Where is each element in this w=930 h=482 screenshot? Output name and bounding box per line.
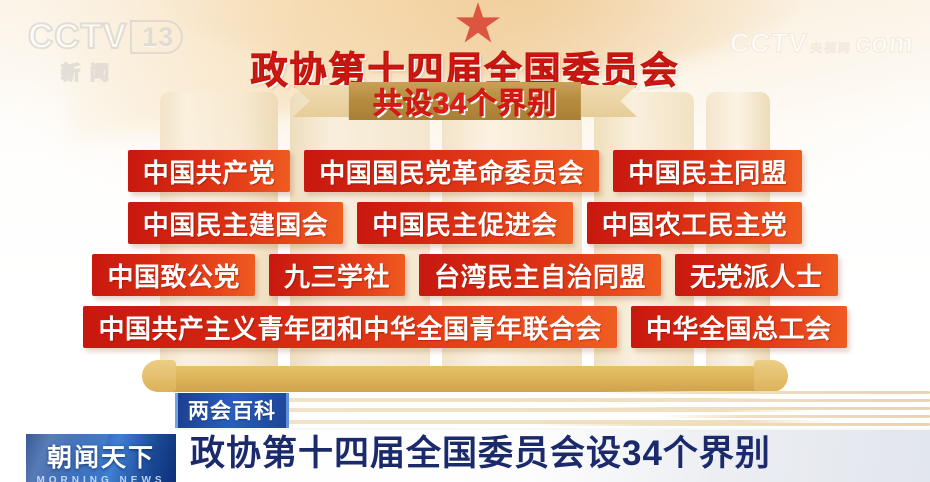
sector-tag: 中国国民党革命委员会	[304, 150, 599, 192]
news-graphic-screen: CCTV 13 新闻 CCTV 央视网 com 政协第十四届全国委员会 共设34…	[0, 0, 930, 482]
sector-tag-label: 无党派人士	[690, 257, 823, 294]
sector-tag: 中国共产党	[128, 150, 291, 192]
sector-tag-label: 中国民主同盟	[628, 153, 787, 190]
ribbon-label: 共设34个界别	[373, 80, 557, 122]
sector-tag: 中国民主促进会	[357, 202, 573, 244]
topic-badge: 两会百科	[175, 393, 289, 428]
sector-tag-label: 中国致公党	[107, 257, 240, 294]
topic-badge-label: 两会百科	[188, 400, 276, 423]
lower-third: 两会百科 朝闻天下 MORNING NEWS 政协第十四届全国委员会设34个界别	[0, 382, 930, 482]
tag-row: 中国共产主义青年团和中华全国青年联合会 中华全国总工会	[0, 306, 930, 348]
sector-tag-label: 中国国民党革命委员会	[319, 153, 584, 190]
sector-tag: 中华全国总工会	[631, 306, 847, 348]
sector-tag-label: 中国共产主义青年团和中华全国青年联合会	[98, 309, 602, 346]
sector-tag-list: 中国共产党 中国国民党革命委员会 中国民主同盟 中国民主建国会 中国民主促进会 …	[0, 150, 930, 358]
ribbon-banner: 共设34个界别	[349, 82, 581, 120]
program-logo: 朝闻天下 MORNING NEWS	[26, 434, 176, 482]
decorative-gold-lines	[460, 390, 930, 424]
sector-tag: 台湾民主自治同盟	[419, 254, 661, 296]
sector-tag-label: 九三学社	[284, 257, 390, 294]
sector-tag-label: 中国共产党	[143, 153, 276, 190]
tag-row: 中国致公党 九三学社 台湾民主自治同盟 无党派人士	[0, 254, 930, 296]
program-name-cn: 朝闻天下	[26, 438, 176, 474]
sector-tag: 无党派人士	[675, 254, 838, 296]
sector-tag: 中国民主同盟	[613, 150, 802, 192]
sector-tag-label: 台湾民主自治同盟	[434, 257, 646, 294]
sector-tag-label: 中国民主促进会	[372, 205, 558, 242]
sector-tag: 中国农工民主党	[587, 202, 803, 244]
ribbon-body: 共设34个界别	[349, 82, 581, 120]
sector-tag-label: 中国农工民主党	[602, 205, 788, 242]
sector-tag-label: 中国民主建国会	[143, 205, 329, 242]
sector-tag: 中国共产主义青年团和中华全国青年联合会	[83, 306, 617, 348]
tag-row: 中国民主建国会 中国民主促进会 中国农工民主党	[0, 202, 930, 244]
tag-row: 中国共产党 中国国民党革命委员会 中国民主同盟	[0, 150, 930, 192]
program-name-en: MORNING NEWS	[26, 475, 176, 482]
sector-tag: 中国民主建国会	[128, 202, 344, 244]
sector-tag-label: 中华全国总工会	[646, 309, 832, 346]
sector-tag: 九三学社	[269, 254, 405, 296]
news-headline: 政协第十四届全国委员会设34个界别	[190, 425, 771, 476]
sector-tag: 中国致公党	[92, 254, 255, 296]
